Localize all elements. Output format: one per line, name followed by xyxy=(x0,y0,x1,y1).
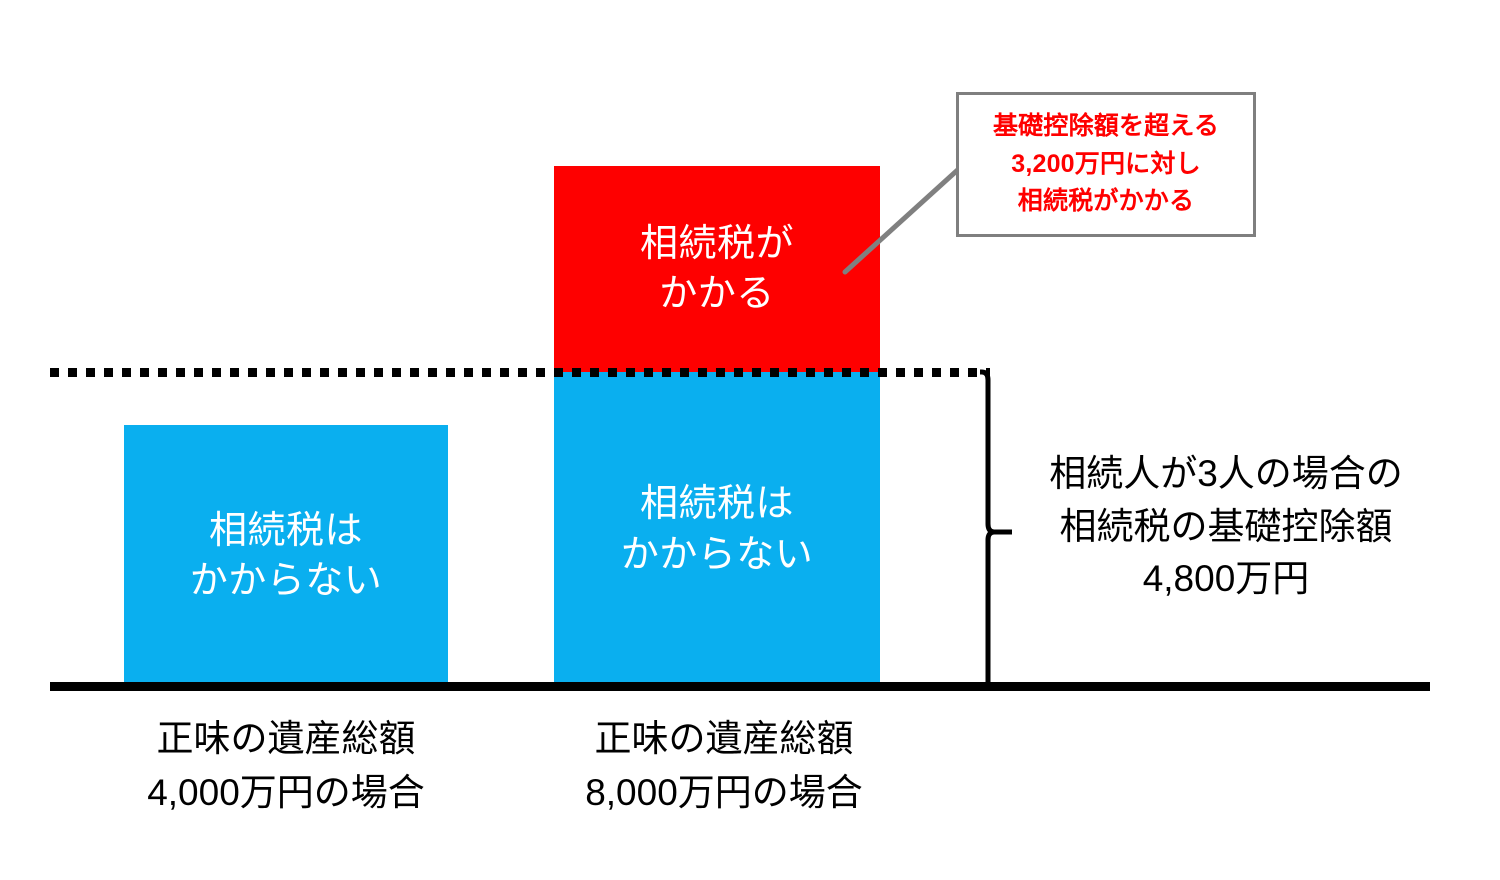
bar-case-b-taxable-label: 相続税が かかる xyxy=(640,219,794,319)
baseline-axis xyxy=(50,682,1430,691)
bar-case-b-non-taxable-label: 相続税は かからない xyxy=(621,479,814,579)
bar-case-b-non-taxable-segment: 相続税は かからない xyxy=(554,372,880,687)
taxable-amount-callout-box: 基礎控除額を超える 3,200万円に対し 相続税がかかる xyxy=(956,92,1256,237)
callout-leader-line-icon xyxy=(840,162,965,277)
bar-case-a-non-taxable-label: 相続税は かからない xyxy=(190,506,383,606)
bar-case-a-non-taxable-segment: 相続税は かからない xyxy=(124,425,448,687)
deduction-bracket-caption: 相続人が3人の場合の 相続税の基礎控除額 4,800万円 xyxy=(1016,448,1436,606)
basic-deduction-threshold-line xyxy=(50,368,990,377)
taxable-amount-callout-text: 基礎控除額を超える 3,200万円に対し 相続税がかかる xyxy=(993,108,1219,221)
figure-canvas: 相続税は かからない 相続税が かかる 相続税は かからない 相続人が3人の場合… xyxy=(0,0,1500,880)
x-axis-label-case-b: 正味の遺産総額 8,000万円の場合 xyxy=(524,712,924,819)
bar-case-b-taxable-segment: 相続税が かかる xyxy=(554,166,880,372)
x-axis-label-case-a: 正味の遺産総額 4,000万円の場合 xyxy=(86,712,486,819)
